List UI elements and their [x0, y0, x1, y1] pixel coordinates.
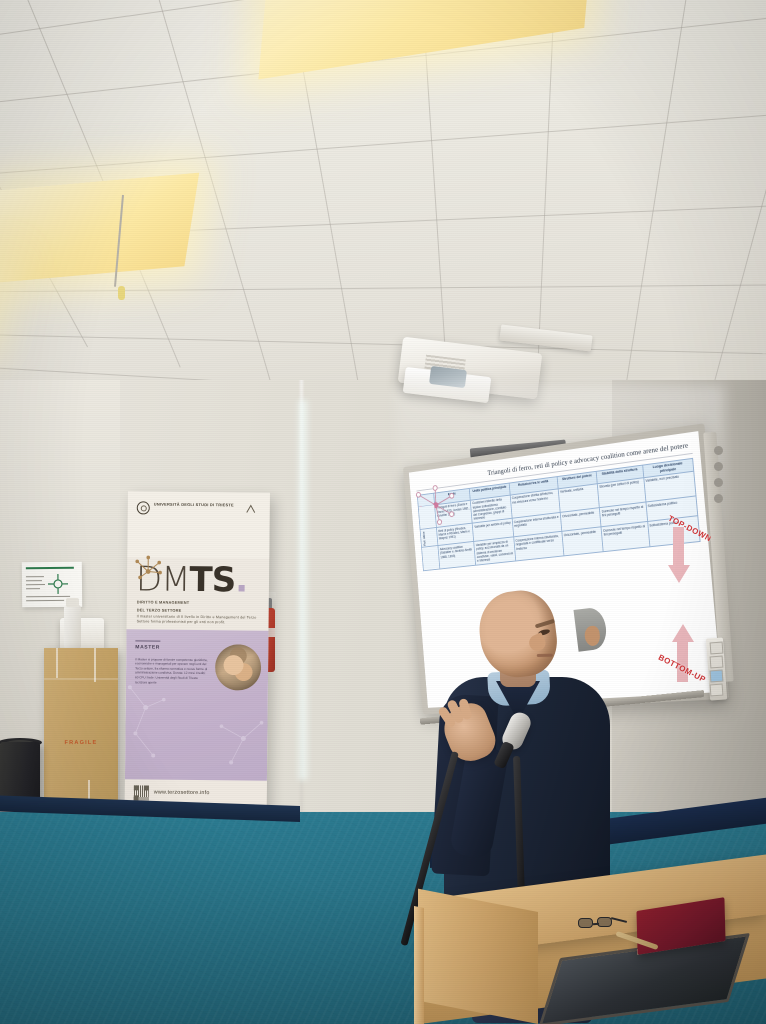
ceiling-grid — [0, 0, 766, 380]
ceiling-grid-line — [0, 332, 766, 358]
wall-glare — [296, 400, 310, 780]
university-seal-icon — [137, 501, 150, 514]
ceiling-grid-line — [713, 0, 766, 380]
table-row-label-1: Reti attive — [420, 528, 438, 548]
presenter-nose — [527, 632, 548, 653]
dmts-ts: TS — [189, 560, 235, 600]
banner-header: UNIVERSITÀ DEGLI STUDI DI TRIESTE — [127, 491, 270, 558]
presenter-brow — [535, 619, 555, 629]
banner-university-name: UNIVERSITÀ DEGLI STUDI DI TRIESTE — [154, 502, 234, 508]
table-cell-r2-c1: Variabile per ampiezza di policy, accomu… — [474, 537, 515, 565]
banner-url[interactable]: www.terzosettore.info — [154, 790, 210, 797]
table-row-label-2 — [422, 546, 440, 571]
banner-subtitle: DIRITTO E MANAGEMENT DEL TERZO SETTORE I… — [127, 598, 269, 626]
table-cell-r2-c0: Advocacy coalition (Sabatier e Jenkins-S… — [438, 542, 476, 569]
ceiling-grid-line — [420, 0, 449, 380]
banner-subtitle-body: Il master universitario di II livello in… — [137, 614, 257, 624]
presenter-head — [475, 587, 561, 682]
hanging-wire-tip — [118, 286, 125, 300]
table-row-label-0 — [418, 505, 436, 530]
table-cell-r2-c3: Orizzontale, permeabile — [562, 527, 604, 556]
banner-master-body: Il Master si propone di fornire competen… — [135, 657, 210, 686]
ceiling-grid-line — [624, 0, 691, 380]
iwb-key-mid[interactable] — [710, 656, 724, 669]
banner-subtitle-line1: DIRITTO E MANAGEMENT — [137, 600, 259, 607]
table-cell-r2-c2: Cooperazione interna strutturata, negozi… — [513, 532, 563, 561]
iwb-key-up[interactable] — [710, 642, 724, 655]
presenter-mouth — [537, 654, 553, 657]
fragile-label: FRAGILE — [44, 740, 118, 747]
poster-diagram-icon — [48, 574, 68, 594]
iwb-key-down[interactable] — [710, 684, 724, 697]
cardboard-box: FRAGILE — [44, 648, 118, 808]
banner-master-label: MASTER — [135, 640, 160, 650]
banner-master-section: MASTER Il Master si propone di fornire c… — [125, 629, 269, 780]
suspended-ceiling — [0, 0, 766, 380]
banner-logo: DMTS. — [127, 557, 269, 599]
iwb-key-active[interactable] — [710, 670, 724, 683]
ceiling-grid-line — [536, 0, 557, 380]
banner-partner-logo — [246, 505, 260, 515]
dmts-star-icon — [134, 555, 162, 583]
partner-mark-icon — [246, 505, 256, 515]
ceiling-grid-line — [0, 362, 766, 380]
ceiling-grid-line — [0, 0, 88, 347]
presenter — [430, 585, 630, 925]
sanitizer-bottle — [64, 605, 81, 649]
table-cell-r2-c4: Durevole nel tempo rispetto ai fini pers… — [601, 522, 649, 552]
podium-front-panel — [418, 889, 538, 1024]
ceiling-light-panel — [0, 173, 199, 284]
qr-code-icon[interactable] — [134, 785, 149, 800]
podium-edge — [414, 906, 424, 1024]
classroom-photo: Triangoli di ferro, reti di policy e adv… — [0, 0, 766, 1024]
ceiling-grid-line — [0, 106, 766, 182]
sanitizer-pump[interactable] — [66, 598, 79, 607]
hands-photo — [215, 644, 261, 690]
banner-subtitle-line2: DEL TERZO SETTORE — [137, 607, 259, 614]
dmts-dot: . — [235, 560, 247, 600]
eyeglasses[interactable] — [578, 917, 626, 929]
